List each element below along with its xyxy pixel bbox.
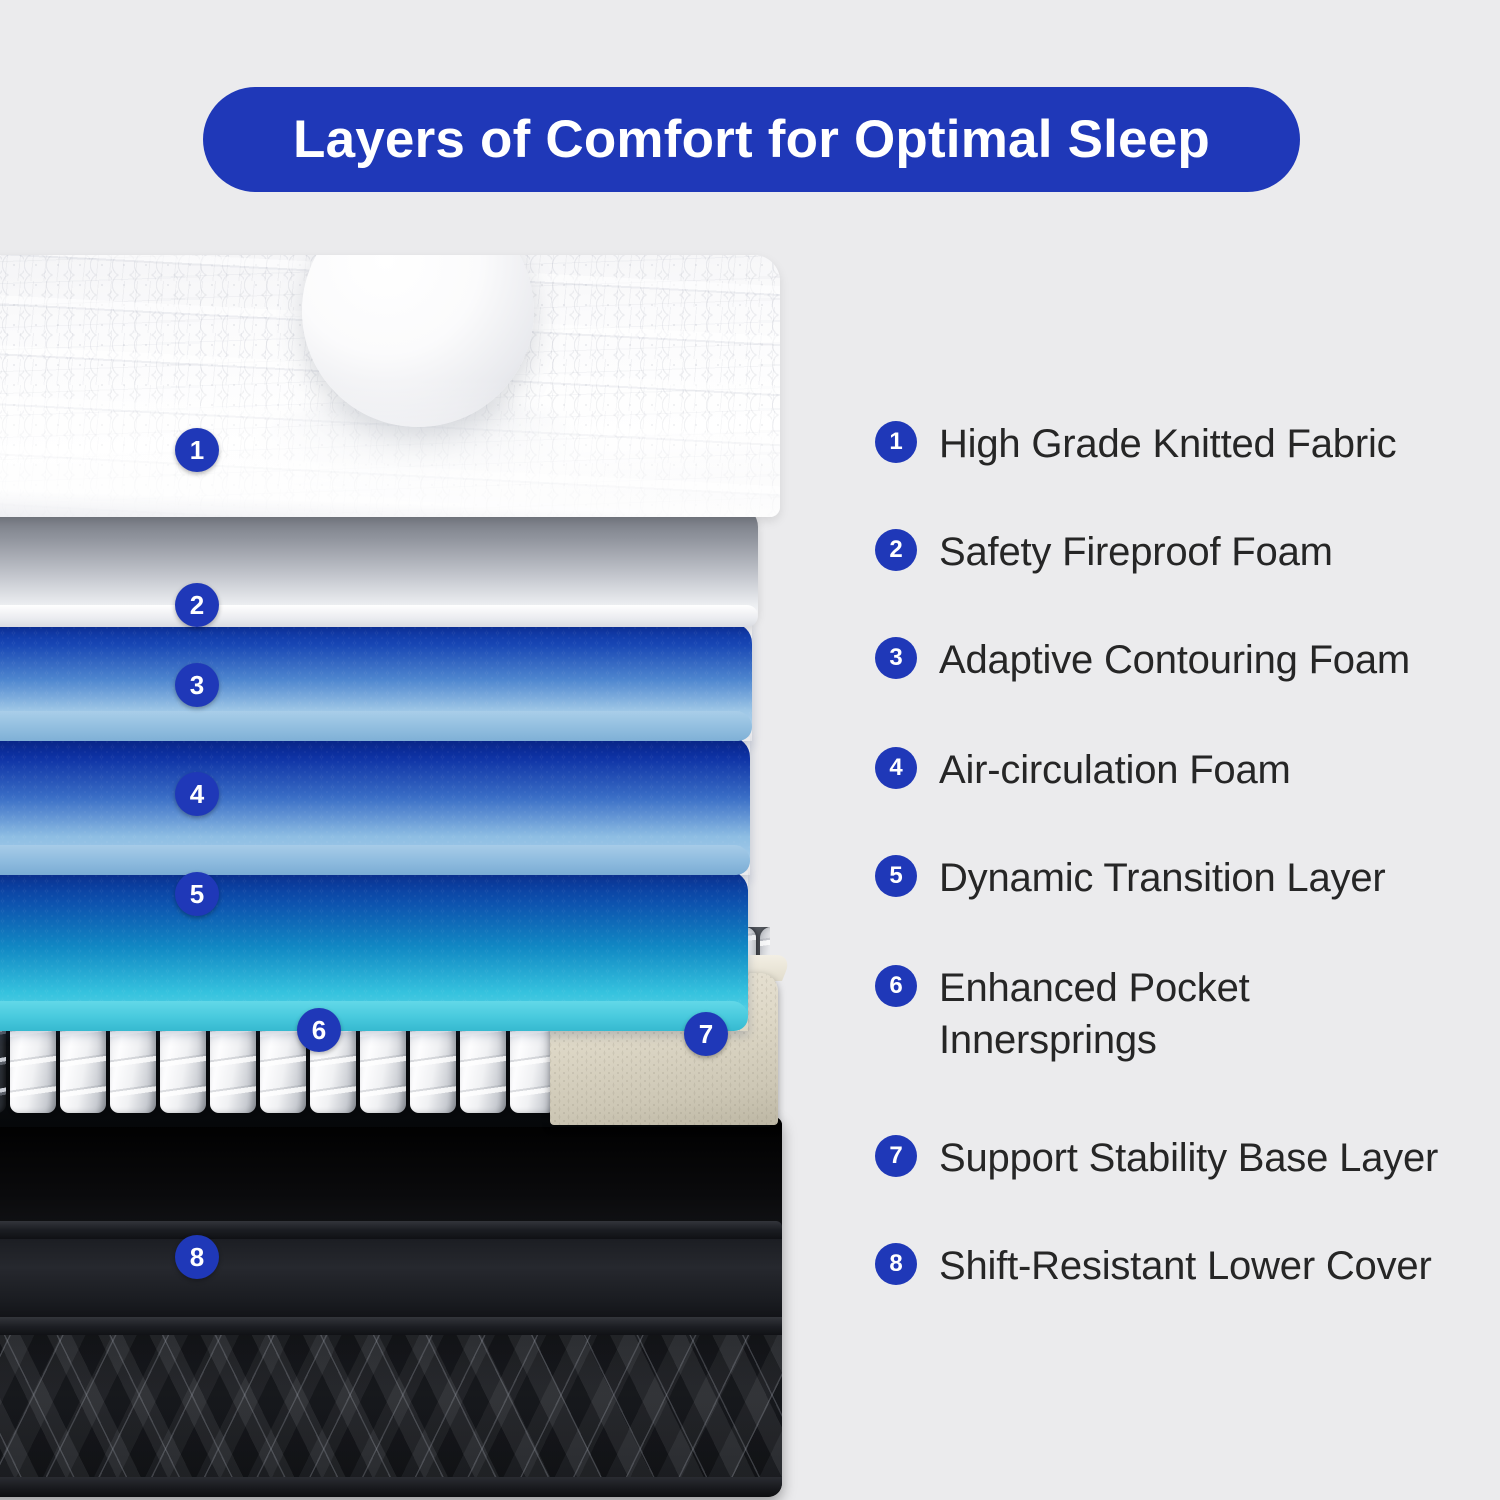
legend-label-4: Air-circulation Foam bbox=[939, 744, 1291, 796]
legend-badge-2: 2 bbox=[875, 529, 917, 571]
product-infographic: Layers of Comfort for Optimal Sleep bbox=[0, 0, 1500, 1500]
page-title: Layers of Comfort for Optimal Sleep bbox=[293, 109, 1210, 170]
callout-badge-5: 5 bbox=[175, 872, 219, 916]
base-inner-shadow bbox=[0, 1117, 782, 1227]
callout-badge-7: 7 bbox=[684, 1012, 728, 1056]
legend-label-6: Enhanced Pocket Innersprings bbox=[939, 962, 1250, 1066]
quilt-diamond-stitching bbox=[0, 1335, 782, 1481]
legend-item-7: 7 Support Stability Base Layer bbox=[875, 1132, 1438, 1184]
callout-badge-2: 2 bbox=[175, 583, 219, 627]
callout-badge-4: 4 bbox=[175, 772, 219, 816]
callout-badge-8: 8 bbox=[175, 1235, 219, 1279]
legend-label-1: High Grade Knitted Fabric bbox=[939, 418, 1396, 470]
layer-adaptive-contouring-foam bbox=[0, 623, 752, 741]
foam-front-edge bbox=[0, 711, 752, 741]
layer-air-circulation-foam bbox=[0, 737, 750, 875]
layer-shift-resistant-lower-cover bbox=[0, 1117, 782, 1497]
base-piping-top bbox=[0, 1221, 782, 1241]
legend-badge-8: 8 bbox=[875, 1243, 917, 1285]
legend-item-8: 8 Shift-Resistant Lower Cover bbox=[875, 1240, 1432, 1292]
legend-badge-5: 5 bbox=[875, 855, 917, 897]
foam-front-edge bbox=[0, 1001, 748, 1031]
legend-badge-4: 4 bbox=[875, 747, 917, 789]
top-surface-sheen bbox=[0, 255, 780, 517]
layer-knitted-fabric-top bbox=[0, 255, 780, 517]
callout-badge-1: 1 bbox=[175, 428, 219, 472]
legend-label-3: Adaptive Contouring Foam bbox=[939, 634, 1410, 686]
legend-badge-7: 7 bbox=[875, 1135, 917, 1177]
legend-item-3: 3 Adaptive Contouring Foam bbox=[875, 634, 1410, 686]
base-side-band bbox=[0, 1239, 782, 1321]
legend-badge-1: 1 bbox=[875, 421, 917, 463]
legend-label-6-line1: Enhanced Pocket bbox=[939, 962, 1250, 1014]
legend-label-5: Dynamic Transition Layer bbox=[939, 852, 1386, 904]
mattress-layer-stack bbox=[0, 255, 790, 1500]
callout-badge-3: 3 bbox=[175, 663, 219, 707]
layer-dynamic-transition bbox=[0, 871, 748, 1031]
title-banner: Layers of Comfort for Optimal Sleep bbox=[203, 87, 1300, 192]
base-piping-middle bbox=[0, 1317, 782, 1337]
legend-item-6: 6 Enhanced Pocket Innersprings bbox=[875, 962, 1250, 1066]
legend-item-4: 4 Air-circulation Foam bbox=[875, 744, 1291, 796]
legend-item-2: 2 Safety Fireproof Foam bbox=[875, 526, 1333, 578]
layer-safety-fireproof-foam bbox=[0, 505, 758, 627]
base-quilted-panel bbox=[0, 1335, 782, 1481]
legend-item-5: 5 Dynamic Transition Layer bbox=[875, 852, 1386, 904]
legend-label-7: Support Stability Base Layer bbox=[939, 1132, 1438, 1184]
legend-label-6-line2: Innersprings bbox=[939, 1014, 1250, 1066]
legend-label-8: Shift-Resistant Lower Cover bbox=[939, 1240, 1432, 1292]
legend-item-1: 1 High Grade Knitted Fabric bbox=[875, 418, 1396, 470]
legend-label-2: Safety Fireproof Foam bbox=[939, 526, 1333, 578]
base-bottom-piping bbox=[0, 1477, 782, 1497]
foam-front-edge bbox=[0, 605, 758, 627]
callout-badge-6: 6 bbox=[297, 1008, 341, 1052]
legend-badge-6: 6 bbox=[875, 965, 917, 1007]
legend-badge-3: 3 bbox=[875, 637, 917, 679]
foam-front-edge bbox=[0, 845, 750, 875]
